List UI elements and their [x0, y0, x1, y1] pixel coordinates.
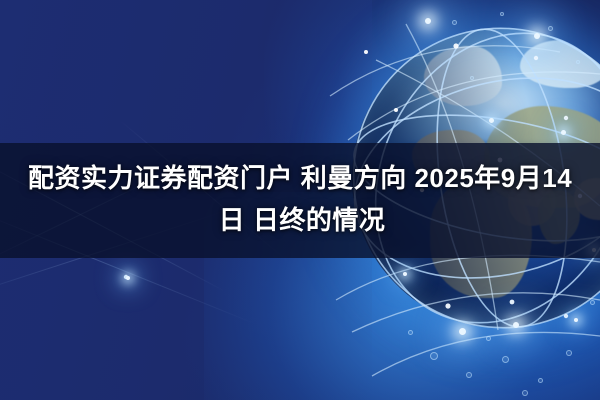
- headline-line-1: 配资实力证券配资门户 利曼方向 2025年9月14: [28, 157, 576, 199]
- article-banner: 配资实力证券配资门户 利曼方向 2025年9月14 日 日终的情况: [0, 0, 600, 400]
- page-title: 配资实力证券配资门户 利曼方向 2025年9月14 日 日终的情况: [0, 143, 600, 258]
- headline-line-2: 日 日终的情况: [28, 199, 576, 241]
